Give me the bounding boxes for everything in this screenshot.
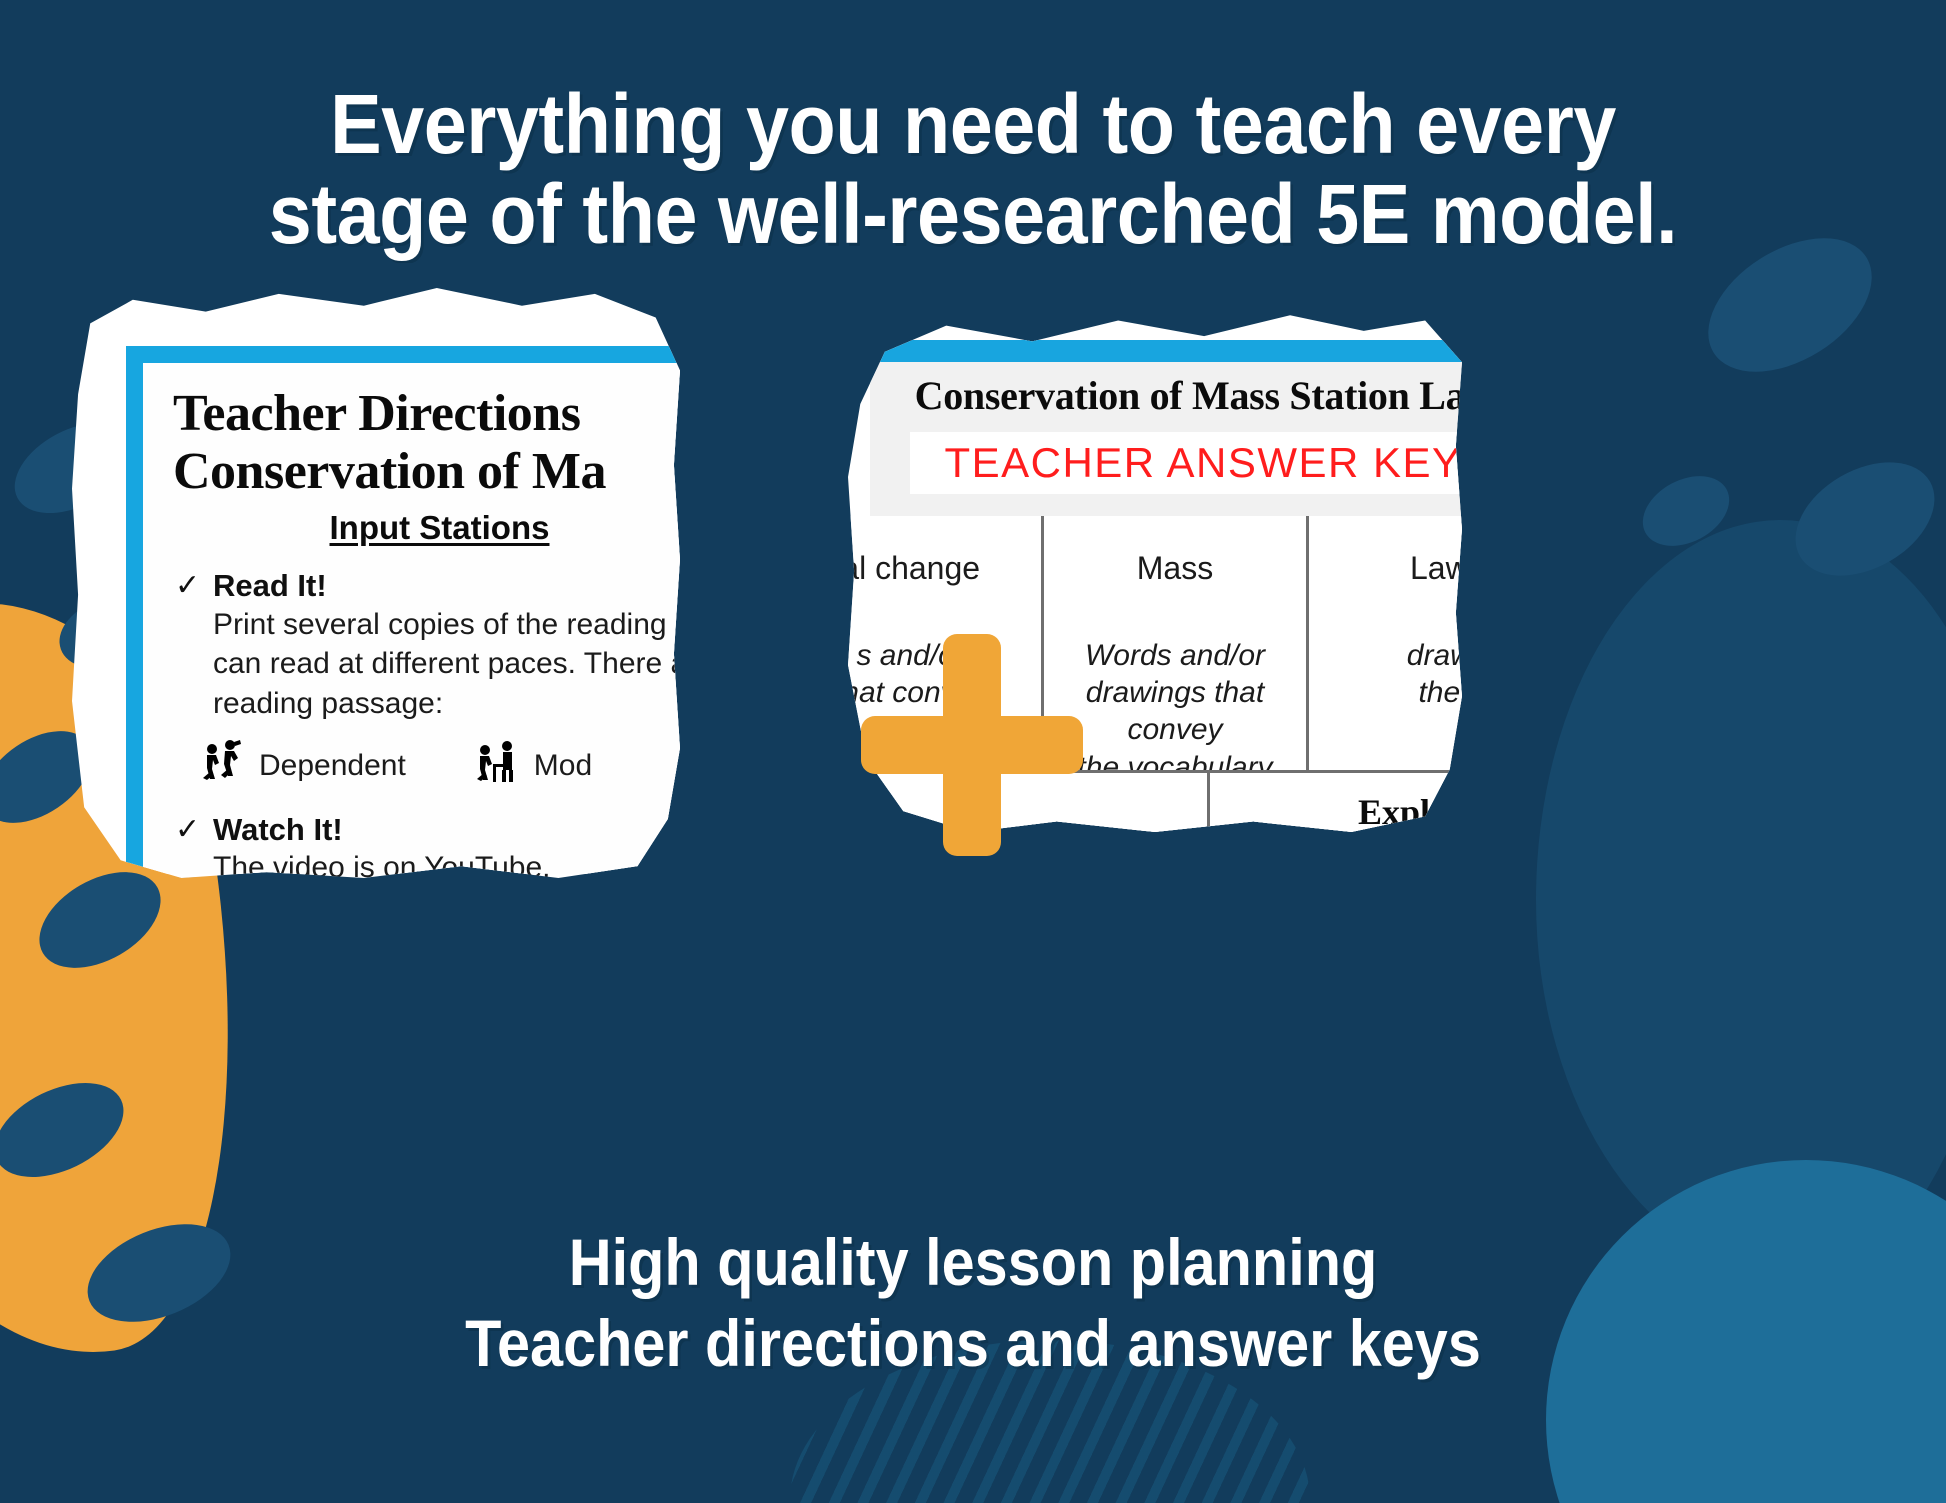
table-body-2-line-1: Words and/or	[1058, 637, 1291, 674]
table-header-2: Mass	[1058, 550, 1291, 587]
plus-icon	[861, 634, 1083, 856]
plus-icon-vertical-bar	[943, 634, 1001, 856]
footer-line-1: High quality lesson planning	[97, 1222, 1848, 1303]
read-it-line-1: Print several copies of the reading so t…	[213, 607, 680, 644]
teacher-directions-card[interactable]: Teacher Directions Conservation of Ma In…	[72, 288, 680, 878]
table-header-1: al change	[848, 550, 1027, 587]
headline-line-1: Everything you need to teach every	[330, 77, 1616, 171]
teacher-directions-content: Teacher Directions Conservation of Ma In…	[143, 363, 680, 874]
left-doc-subtitle: Input Stations	[173, 509, 680, 547]
reading-options-row: Dependent	[173, 740, 680, 791]
reading-option-modified-label: Mod	[534, 749, 592, 783]
table-body-2-line-2: drawings that convey	[1058, 674, 1291, 748]
left-doc-title-line-1: Teacher Directions	[173, 385, 680, 443]
right-doc-title: Conservation of Mass Station La	[870, 372, 1462, 419]
poster-canvas: Everything you need to teach every stage…	[0, 0, 1946, 1503]
footer-line-2: Teacher directions and answer keys	[97, 1303, 1848, 1384]
left-doc-title-line-2: Conservation of Ma	[173, 443, 680, 501]
section-watch-it: ✓ Watch It! The video is on YouTube.	[173, 813, 680, 878]
checkmark-icon: ✓	[175, 815, 200, 845]
checkmark-icon: ✓	[175, 571, 200, 601]
blue-header-bar	[870, 340, 1462, 362]
two-people-climbing-icon	[201, 740, 247, 791]
read-it-line-2: can read at different paces. There are t…	[213, 646, 680, 683]
watch-it-heading: Watch It!	[213, 813, 680, 847]
teacher-directions-page: Teacher Directions Conservation of Ma In…	[126, 346, 680, 874]
person-at-desk-icon	[476, 740, 522, 791]
answer-key-label: TEACHER ANSWER KEY	[944, 439, 1461, 487]
read-it-heading: Read It!	[213, 569, 680, 603]
read-it-line-3: reading passage:	[213, 686, 680, 723]
answer-key-banner: TEACHER ANSWER KEY	[910, 432, 1462, 494]
table-header-3: Law	[1323, 550, 1462, 587]
reading-option-dependent: Dependent	[201, 740, 406, 791]
page-title: Everything you need to teach every stage…	[78, 80, 1868, 260]
table-body-3-line-1: draw	[1323, 637, 1462, 674]
reading-option-modified: Mod	[476, 740, 592, 791]
footer-text: High quality lesson planning Teacher dir…	[97, 1222, 1848, 1383]
section-read-it: ✓ Read It! Print several copies of the r…	[173, 569, 680, 722]
reading-option-dependent-label: Dependent	[259, 749, 406, 783]
table-body-3-line-2: the	[1323, 674, 1462, 711]
blue-blob-right	[1536, 520, 1946, 1280]
headline-line-2: stage of the well-researched 5E model.	[122, 170, 1824, 260]
